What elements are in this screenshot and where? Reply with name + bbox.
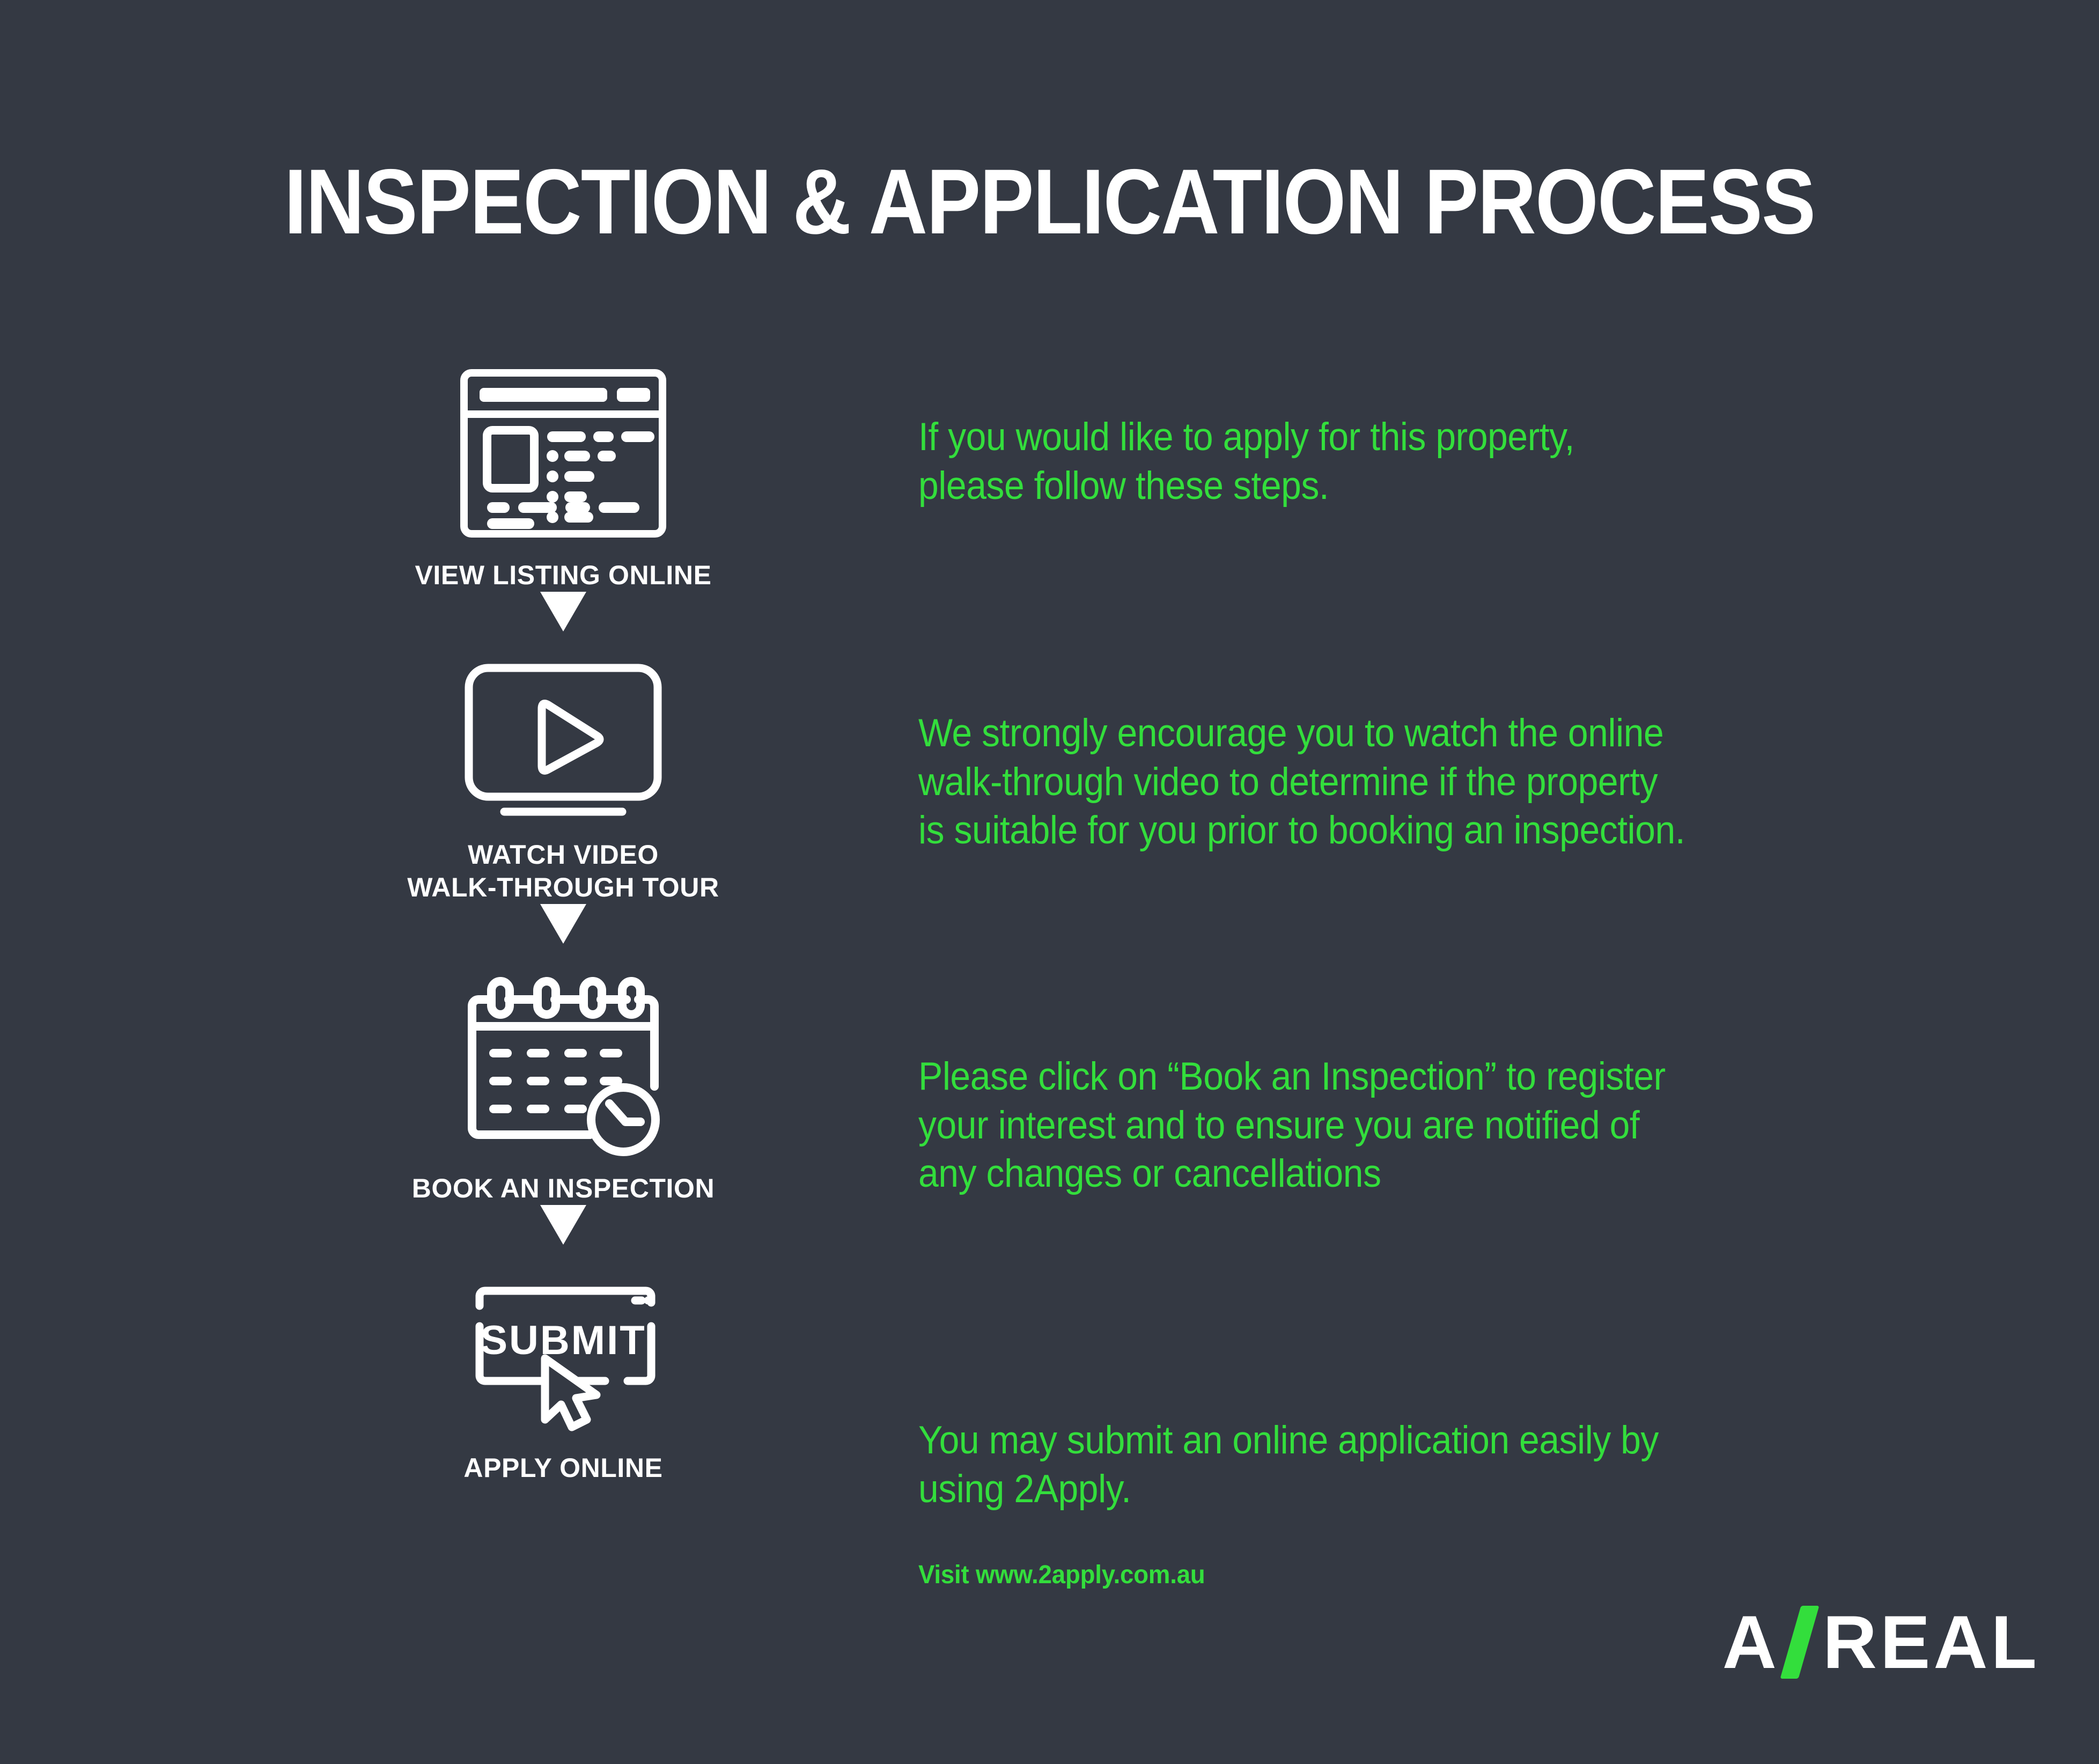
flow-arrow-3 [343,1205,783,1268]
infographic-poster: INSPECTION & APPLICATION PROCESS [0,0,2099,1764]
flow-step-apply-online: SUBMIT APPLY ONLINE [343,1268,783,1484]
visit-website-link[interactable]: Visit www.2apply.com.au [918,1560,1205,1590]
triangle-down-icon [540,592,586,631]
flow-arrow-2 [343,904,783,967]
blurb-watch-video: We strongly encourage you to watch the o… [918,709,1921,855]
brand-logo: A REAL [1722,1602,2040,1682]
process-flow: VIEW LISTING ONLINE WATCH VIDEO WALK-THR… [343,365,783,1484]
blurb-view-listing: If you would like to apply for this prop… [918,413,1866,510]
submit-button-cursor-icon: SUBMIT [456,1268,671,1440]
calendar-clock-icon [456,967,671,1160]
triangle-down-icon [540,904,586,944]
blurb-book-inspection: Please click on “Book an Inspection” to … [918,1053,1866,1199]
flow-step-label: VIEW LISTING ONLINE [343,559,783,592]
page-title: INSPECTION & APPLICATION PROCESS [126,156,1973,248]
submit-label: SUBMIT [480,1318,646,1363]
flow-step-label: APPLY ONLINE [343,1452,783,1484]
flow-step-watch-video: WATCH VIDEO WALK-THROUGH TOUR [343,655,783,904]
flow-step-book-inspection: BOOK AN INSPECTION [343,967,783,1205]
green-slash-icon [1780,1606,1819,1679]
flow-step-label: WATCH VIDEO WALK-THROUGH TOUR [343,839,783,904]
triangle-down-icon [540,1205,586,1245]
flow-step-view-listing: VIEW LISTING ONLINE [343,365,783,592]
flow-arrow-1 [343,592,783,655]
logo-letter-a: A [1722,1605,1780,1680]
browser-listing-icon [456,365,671,547]
logo-word-real: REAL [1823,1605,2040,1680]
blurb-apply-online: You may submit an online application eas… [918,1416,1866,1513]
video-play-screen-icon [456,655,671,827]
flow-step-label: BOOK AN INSPECTION [343,1172,783,1205]
